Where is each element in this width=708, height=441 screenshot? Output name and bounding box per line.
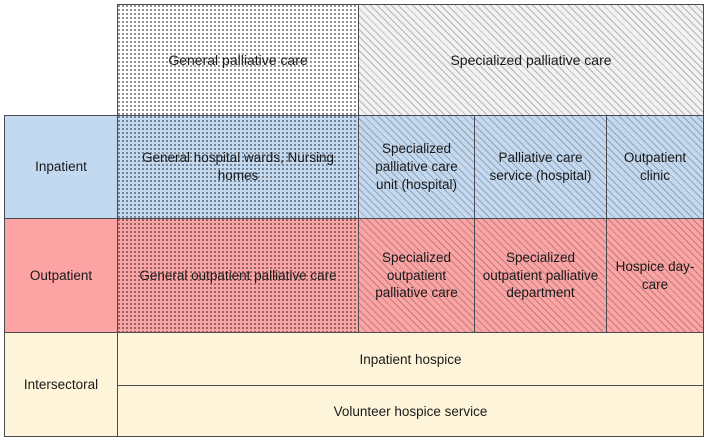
row-header-intersectoral: Intersectoral: [4, 332, 118, 437]
cell-inpatient-general-label: General hospital wards, Nursing homes: [122, 149, 354, 185]
column-header-general-palliative-care: General palliative care: [117, 4, 359, 116]
cell-outpatient-general-label: General outpatient palliative care: [139, 267, 336, 285]
cell-inpatient-outpatient-clinic-label: Outpatient clinic: [611, 149, 699, 185]
row-header-inpatient-label: Inpatient: [35, 158, 87, 176]
cell-intersectoral-inpatient-hospice-label: Inpatient hospice: [359, 352, 461, 367]
cell-intersectoral-volunteer-hospice-service-label: Volunteer hospice service: [334, 404, 488, 419]
cell-intersectoral-volunteer-hospice-service: Volunteer hospice service: [117, 385, 704, 437]
cell-intersectoral-inpatient-hospice: Inpatient hospice: [117, 332, 704, 386]
cell-outpatient-specialized-department: Specialized outpatient palliative depart…: [474, 218, 607, 333]
column-header-specialized-palliative-care: Specialized palliative care: [358, 4, 704, 116]
cell-inpatient-specialized-unit: Specialized palliative care unit (hospit…: [358, 115, 475, 219]
cell-inpatient-specialized-unit-label: Specialized palliative care unit (hospit…: [363, 140, 470, 193]
cell-inpatient-palliative-care-service-label: Palliative care service (hospital): [479, 149, 602, 185]
cell-inpatient-general: General hospital wards, Nursing homes: [117, 115, 359, 219]
cell-inpatient-outpatient-clinic: Outpatient clinic: [606, 115, 704, 219]
row-header-intersectoral-label: Intersectoral: [24, 376, 98, 394]
row-header-outpatient-label: Outpatient: [30, 267, 92, 285]
row-header-inpatient: Inpatient: [4, 115, 118, 219]
row-header-outpatient: Outpatient: [4, 218, 118, 333]
cell-outpatient-hospice-day-care-label: Hospice day-care: [611, 258, 699, 294]
cell-outpatient-specialized-department-label: Specialized outpatient palliative depart…: [479, 249, 602, 302]
cell-outpatient-general: General outpatient palliative care: [117, 218, 359, 333]
cell-outpatient-hospice-day-care: Hospice day-care: [606, 218, 704, 333]
cell-outpatient-specialized-care-label: Specialized outpatient palliative care: [363, 249, 470, 302]
column-header-specialized-label: Specialized palliative care: [450, 51, 611, 69]
cell-inpatient-palliative-care-service: Palliative care service (hospital): [474, 115, 607, 219]
palliative-care-matrix: General palliative care Specialized pall…: [0, 0, 708, 441]
cell-outpatient-specialized-care: Specialized outpatient palliative care: [358, 218, 475, 333]
column-header-general-label: General palliative care: [168, 51, 307, 69]
